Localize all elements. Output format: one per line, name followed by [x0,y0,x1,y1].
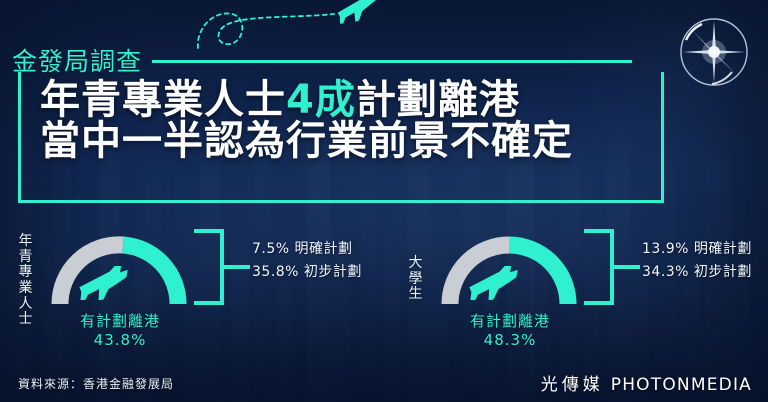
vlabel-char: 年 [14,234,38,250]
photonmedia-emblem-icon [672,10,756,94]
brand-name-cn: 光傳媒 [541,370,604,395]
gauge-caption-text: 有計劃離港 [32,312,208,331]
group-vertical-label: 大 學 生 [404,256,428,303]
headline-accent: 4成 [286,77,356,123]
gauge-caption-text: 有計劃離港 [422,312,598,331]
note-line: 35.8% 初步計劃 [252,261,362,284]
callout-notes: 7.5% 明確計劃 35.8% 初步計劃 [252,238,362,284]
note-line: 13.9% 明確計劃 [642,238,752,261]
airplane-icon [466,266,522,300]
headline-frame-notch [18,72,21,90]
brand-logo: 光傳媒 PHOTONMEDIA [541,370,752,395]
headline: 年青專業人士4成計劃離港 當中一半認為行業前景不確定 [40,80,660,162]
vlabel-char: 人 [14,297,38,313]
headline-part-a: 年青專業人士 [40,77,286,123]
kicker-rule [152,60,632,63]
gauge-caption: 有計劃離港 43.8% [32,312,208,350]
note-line: 7.5% 明確計劃 [252,238,362,261]
gauge-value: 43.8% [32,331,208,350]
callout-notes: 13.9% 明確計劃 34.3% 初步計劃 [642,238,752,284]
gauge-value: 48.3% [422,331,598,350]
note-line: 34.3% 初步計劃 [642,261,752,284]
vlabel-char: 專 [14,265,38,281]
headline-part-b: 計劃離港 [356,77,520,123]
source-credit: 資料來源：香港金融發展局 [18,375,174,392]
headline-line-1: 年青專業人士4成計劃離港 [40,80,660,121]
callout-bracket-icon [192,228,250,306]
vlabel-char: 生 [404,287,428,303]
vlabel-char: 業 [14,281,38,297]
vlabel-char: 青 [14,250,38,266]
headline-line-2: 當中一半認為行業前景不確定 [40,121,660,162]
vlabel-char: 大 [404,256,428,272]
brand-name-en: PHOTONMEDIA [611,375,752,395]
infographic-canvas: 金發局調查 年青專業人士4成計劃離港 當中一半認為行業前景不確定 年 青 專 業… [0,0,768,402]
callout-bracket-icon [582,228,640,306]
gauge-caption: 有計劃離港 48.3% [422,312,598,350]
kicker-text: 金發局調查 [12,49,142,74]
vlabel-char: 學 [404,272,428,288]
airplane-icon [76,266,132,300]
